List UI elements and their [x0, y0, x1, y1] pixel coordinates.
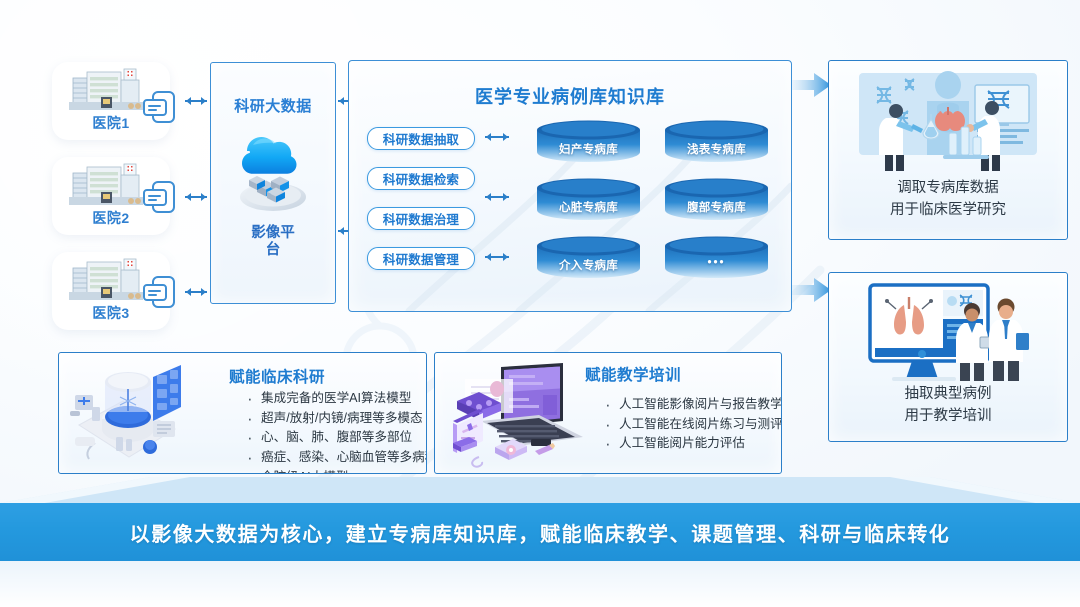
database-label: 心脏专病库: [535, 199, 642, 215]
feature-list-teaching-training: 人工智能影像阅片与报告教学 人工智能在线阅片练习与测评 人工智能阅片能力评估: [603, 395, 782, 454]
research-lab-dna-illustration: [849, 71, 1047, 175]
big-data-panel[interactable]: 科研大数据: [210, 62, 336, 304]
feature-item: 集成完备的医学AI算法模型: [245, 389, 427, 409]
caption-line-1: 调取专病库数据: [897, 180, 999, 196]
bidirectional-arrow-icon-kb-2: [481, 190, 513, 204]
database-obstetrics[interactable]: 妇产专病库: [535, 119, 642, 163]
bottom-banner: 以影像大数据为核心，建立专病库知识库，赋能临床教学、课题管理、科研与临床转化: [0, 477, 1080, 607]
feature-panel-clinical-research[interactable]: 赋能临床科研 集成完备的医学AI算法模型 超声/放射/内镜/病理等多模态 心、脑…: [58, 352, 427, 474]
diagram-canvas: 医院1 医院2: [0, 0, 1080, 607]
teaching-monitor-doctors-illustration: [848, 281, 1048, 381]
data-card-icon[interactable]: [140, 177, 180, 217]
caption-line-1: 抽取典型病例: [905, 386, 992, 402]
database-more[interactable]: •••: [663, 235, 770, 279]
database-cardiac[interactable]: 心脏专病库: [535, 177, 642, 221]
feature-panel-teaching-training[interactable]: 赋能教学培训 人工智能影像阅片与报告教学 人工智能在线阅片练习与测评 人工智能阅…: [434, 352, 782, 474]
database-label: 浅表专病库: [663, 141, 770, 157]
database-label: 腹部专病库: [663, 199, 770, 215]
database-superficial[interactable]: 浅表专病库: [663, 119, 770, 163]
pill-label: 科研数据治理: [383, 209, 459, 228]
feature-title-clinical-research: 赋能临床科研: [229, 365, 325, 387]
banner-text: 以影像大数据为核心，建立专病库知识库，赋能临床教学、课题管理、科研与临床转化: [0, 503, 1080, 561]
feature-item: 心、脑、肺、腹部等多部位: [245, 428, 427, 448]
feature-item: 人工智能阅片能力评估: [603, 434, 782, 454]
database-label: 妇产专病库: [535, 141, 642, 157]
outcome-panel-teaching[interactable]: 抽取典型病例 用于教学培训: [828, 272, 1068, 442]
feature-item: 癌症、感染、心脑血管等多病种: [245, 448, 427, 468]
platform-label-line2: 台: [266, 242, 281, 258]
database-label: •••: [663, 257, 770, 269]
knowledge-base-title: 医学专业病例库知识库: [349, 83, 791, 109]
feature-item: 全院级AI大模型: [245, 468, 427, 474]
pill-data-management[interactable]: 科研数据管理: [367, 247, 475, 270]
clinical-research-lab-illustration: [67, 359, 185, 467]
bidirectional-arrow-icon-kb-3: [481, 250, 513, 264]
database-label: 介入专病库: [535, 257, 642, 273]
bidirectional-arrow-icon: [181, 190, 211, 204]
feature-item: 超声/放射/内镜/病理等多模态: [245, 409, 427, 429]
pill-data-extraction[interactable]: 科研数据抽取: [367, 127, 475, 150]
caption-line-2: 用于教学培训: [905, 408, 992, 424]
right-block-arrow-icon-2: [792, 277, 832, 303]
knowledge-base-panel[interactable]: 医学专业病例库知识库 科研数据抽取 科研数据检索 科研数据治理 科研数据管理 妇…: [348, 60, 792, 312]
database-interventional[interactable]: 介入专病库: [535, 235, 642, 279]
pill-label: 科研数据抽取: [383, 129, 459, 148]
big-data-title: 科研大数据: [211, 95, 335, 116]
bidirectional-arrow-icon: [181, 285, 211, 299]
data-card-icon[interactable]: [140, 87, 180, 127]
feature-list-clinical-research: 集成完备的医学AI算法模型 超声/放射/内镜/病理等多模态 心、脑、肺、腹部等多…: [245, 389, 427, 474]
outcome-caption-research: 调取专病库数据 用于临床医学研究: [829, 177, 1067, 221]
data-card-icon[interactable]: [140, 272, 180, 312]
right-block-arrow-icon-1: [792, 72, 832, 98]
platform-label-line1: 影像平: [251, 225, 295, 241]
platform-label: 影像平 台: [211, 225, 335, 259]
caption-line-2: 用于临床医学研究: [890, 202, 1006, 218]
database-abdominal[interactable]: 腹部专病库: [663, 177, 770, 221]
pill-label: 科研数据管理: [383, 249, 459, 268]
outcome-panel-research[interactable]: 调取专病库数据 用于临床医学研究: [828, 60, 1068, 240]
feature-item: 人工智能影像阅片与报告教学: [603, 395, 782, 415]
feature-title-teaching-training: 赋能教学培训: [585, 363, 681, 385]
pill-label: 科研数据检索: [383, 169, 459, 188]
pill-data-governance[interactable]: 科研数据治理: [367, 207, 475, 230]
pill-data-retrieval[interactable]: 科研数据检索: [367, 167, 475, 190]
bidirectional-arrow-icon-kb-1: [481, 130, 513, 144]
education-laptop-illustration: [443, 359, 585, 469]
outcome-caption-teaching: 抽取典型病例 用于教学培训: [829, 383, 1067, 427]
cloud-storage-platform-icon: [227, 125, 319, 217]
feature-item: 人工智能在线阅片练习与测评: [603, 415, 782, 435]
bidirectional-arrow-icon: [181, 94, 211, 108]
